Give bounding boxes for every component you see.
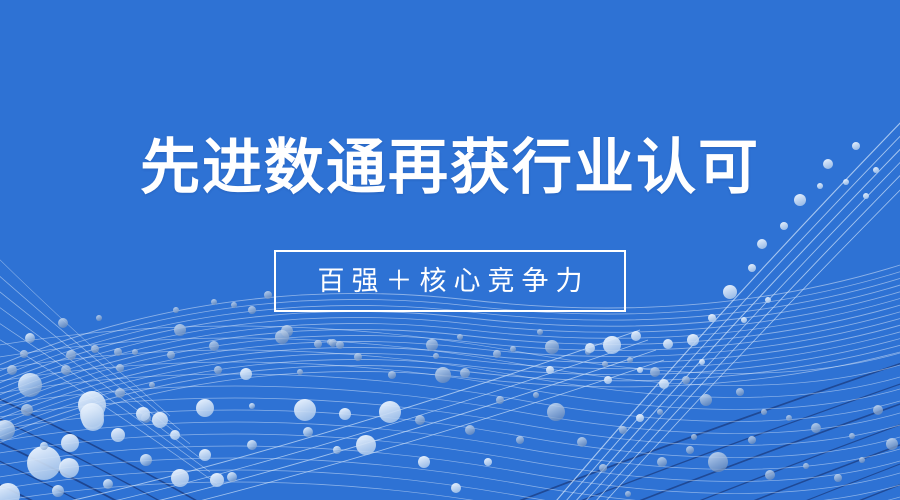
page-title: 先进数通再获行业认可: [0, 133, 900, 203]
subtitle-text: 百强＋核心竞争力: [311, 266, 590, 296]
subtitle-box: 百强＋核心竞争力: [274, 250, 626, 312]
subtitle-container: 百强＋核心竞争力: [0, 250, 900, 312]
promo-banner: 先进数通再获行业认可 百强＋核心竞争力: [0, 0, 900, 500]
banner-content: 先进数通再获行业认可 百强＋核心竞争力: [0, 0, 900, 500]
